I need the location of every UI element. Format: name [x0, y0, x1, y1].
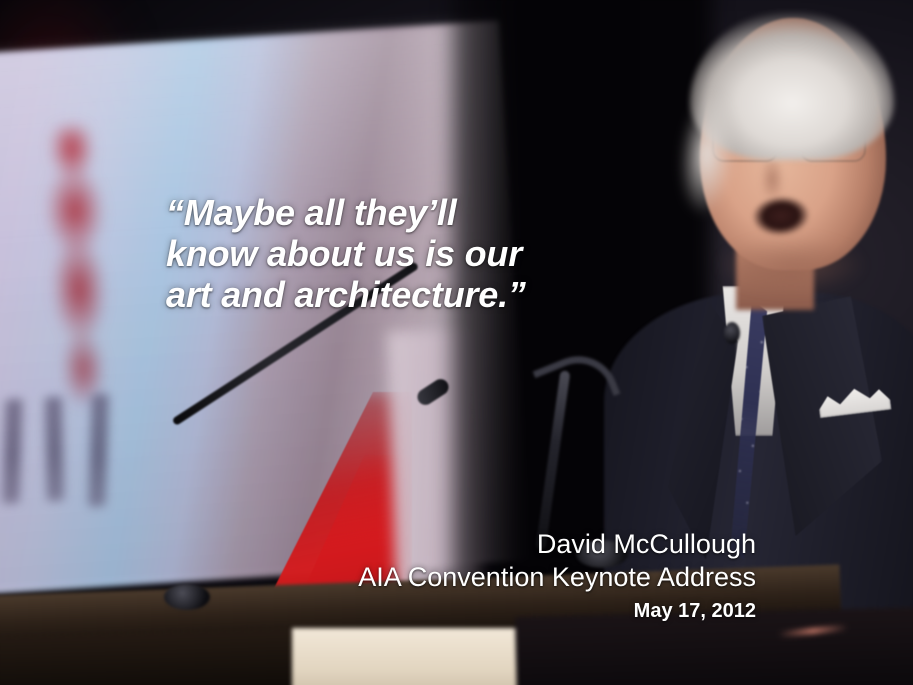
aia-wordmark: [0, 388, 153, 512]
lapel-microphone-icon: [724, 322, 740, 344]
event-date: May 17, 2012: [358, 596, 756, 626]
speaker-name: David McCullough: [358, 528, 756, 561]
podium-front-panel: [292, 628, 522, 685]
aia-wordmark-letter: [88, 394, 109, 507]
quote-slide: “Maybe all they’ll know about us is our …: [0, 0, 913, 685]
chin-shadow: [716, 236, 866, 294]
aia-wordmark-letter: [2, 399, 22, 504]
quote-text: “Maybe all they’ll know about us is our …: [166, 192, 636, 315]
aia-wordmark-letter: [45, 396, 64, 501]
podium-shadow-left: [0, 628, 311, 685]
attribution-block: David McCullough AIA Convention Keynote …: [358, 528, 756, 626]
event-name: AIA Convention Keynote Address: [358, 561, 756, 594]
microphone-base-left: [164, 584, 210, 610]
